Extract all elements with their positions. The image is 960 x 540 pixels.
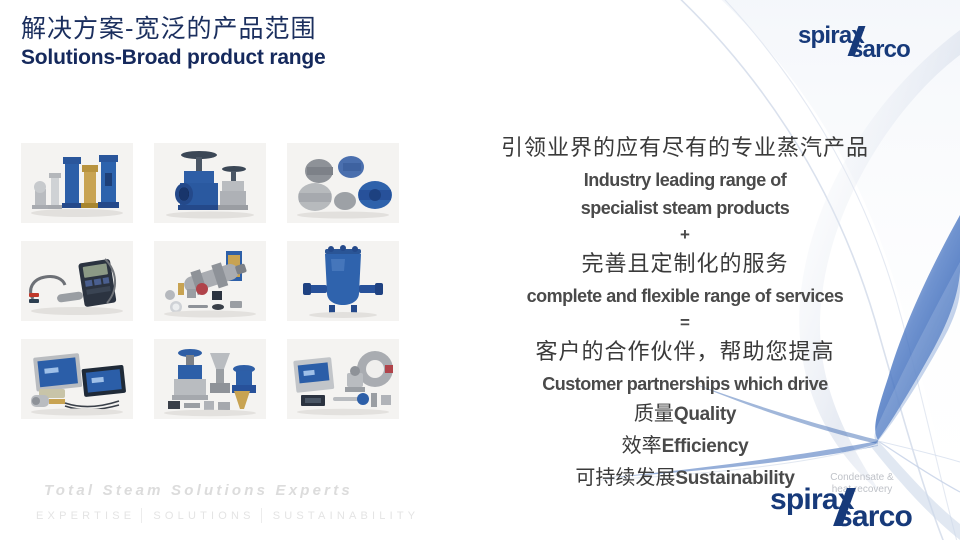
footer-pillar-expertise: EXPERTISE (36, 510, 135, 522)
message-operator-equals: = (455, 310, 915, 336)
benefit-efficiency-cn: 效率 (622, 433, 662, 457)
page-title: 解决方案-宽泛的产品范围 Solutions-Broad product ran… (21, 14, 326, 71)
benefit-sustainability-cn: 可持续发展 (575, 465, 675, 489)
slide-canvas: 解决方案-宽泛的产品范围 Solutions-Broad product ran… (0, 0, 960, 540)
product-photo-level-controllers (21, 339, 133, 419)
pillar-divider (141, 508, 142, 523)
product-photo-flow-metering-equipment (287, 339, 399, 419)
page-title-cn: 解决方案-宽泛的产品范围 (21, 14, 326, 44)
product-photo-blue-pressure-vessel (287, 241, 399, 321)
product-photo-heat-exchangers-and-fittings (154, 241, 266, 321)
message-line-1: 引领业界的应有尽有的专业蒸汽产品 (455, 132, 915, 166)
message-benefit-quality: 质量Quality (455, 398, 915, 430)
product-row (21, 143, 399, 223)
product-photo-steam-traps (287, 143, 399, 223)
product-row (21, 241, 399, 321)
message-line-6: complete and flexible range of services (455, 282, 915, 310)
footer-pillar-solutions: SOLUTIONS (153, 510, 254, 522)
logo-word-sarco: sarco (850, 36, 910, 64)
product-photo-control-valves (154, 143, 266, 223)
footer-pillars: EXPERTISE SOLUTIONS SUSTAINABILITY (36, 508, 419, 523)
message-benefit-efficiency: 效率Efficiency (455, 430, 915, 462)
benefit-quality-en: Quality (674, 404, 736, 425)
benefit-quality-cn: 质量 (634, 401, 674, 425)
product-image-grid (21, 143, 399, 437)
product-photo-portable-test-instrument (21, 241, 133, 321)
message-line-9: Customer partnerships which drive (455, 370, 915, 398)
product-photo-safety-relief-valves (21, 143, 133, 223)
pillar-divider (261, 508, 262, 523)
benefit-efficiency-en: Efficiency (662, 436, 749, 457)
footer-tagline: Total Steam Solutions Experts (44, 482, 353, 499)
logo-word-sarco: sarco (836, 500, 912, 534)
spirax-sarco-logo-header: spirax sarco (795, 22, 935, 60)
product-photo-control-valve-assemblies (154, 339, 266, 419)
message-line-2: Industry leading range of (455, 166, 915, 194)
message-line-5: 完善且定制化的服务 (455, 248, 915, 282)
message-line-3: specialist steam products (455, 194, 915, 222)
spirax-sarco-logo-footer: spirax sarco (770, 483, 945, 531)
product-row (21, 339, 399, 419)
message-operator-plus: + (455, 222, 915, 248)
message-line-8: 客户的合作伙伴，帮助您提高 (455, 336, 915, 370)
footer-pillar-sustainability: SUSTAINABILITY (273, 510, 420, 522)
page-title-en: Solutions-Broad product range (21, 45, 326, 71)
value-proposition-text: 引领业界的应有尽有的专业蒸汽产品 Industry leading range … (455, 132, 915, 494)
